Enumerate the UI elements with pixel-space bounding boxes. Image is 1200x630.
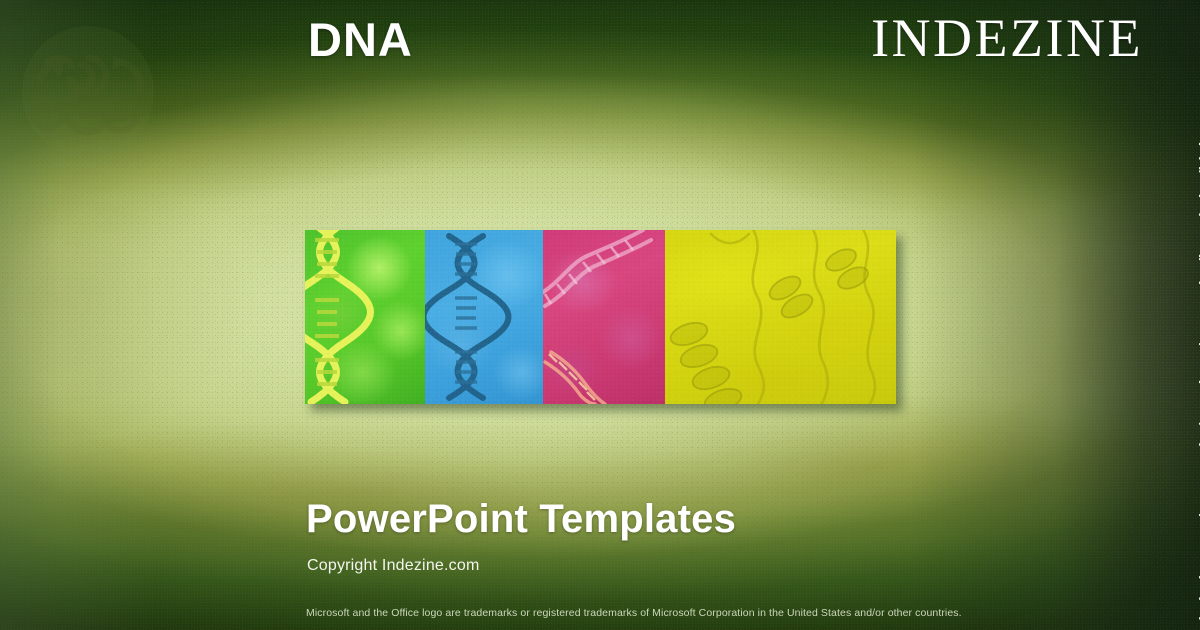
- template-thumbnail-yellow-organic[interactable]: [665, 230, 896, 404]
- template-thumbnail-strip: [305, 230, 896, 404]
- thumb-noise: [425, 230, 543, 404]
- thumb-noise: [665, 230, 896, 404]
- page-title: DNA: [308, 14, 413, 66]
- copyright-text: Copyright Indezine.com: [307, 557, 480, 575]
- url-line-1: indezine.com/powerpoint/templates/catego…: [1196, 0, 1200, 622]
- thumb-noise: [305, 230, 425, 404]
- slide-canvas: DNA INDEZINE indezine.com/powerpoint/tem…: [0, 0, 1200, 630]
- url-sidebar: indezine.com/powerpoint/templates/catego…: [1144, 0, 1200, 630]
- template-thumbnail-blue-helix[interactable]: [425, 230, 543, 404]
- trademark-disclaimer: Microsoft and the Office logo are tradem…: [306, 607, 962, 619]
- thumb-noise: [543, 230, 665, 404]
- footer-heading: PowerPoint Templates: [306, 497, 736, 542]
- template-thumbnail-magenta-strands[interactable]: [543, 230, 665, 404]
- template-thumbnail-green-helix[interactable]: [305, 230, 425, 404]
- brand-logo-text: INDEZINE: [871, 10, 1143, 67]
